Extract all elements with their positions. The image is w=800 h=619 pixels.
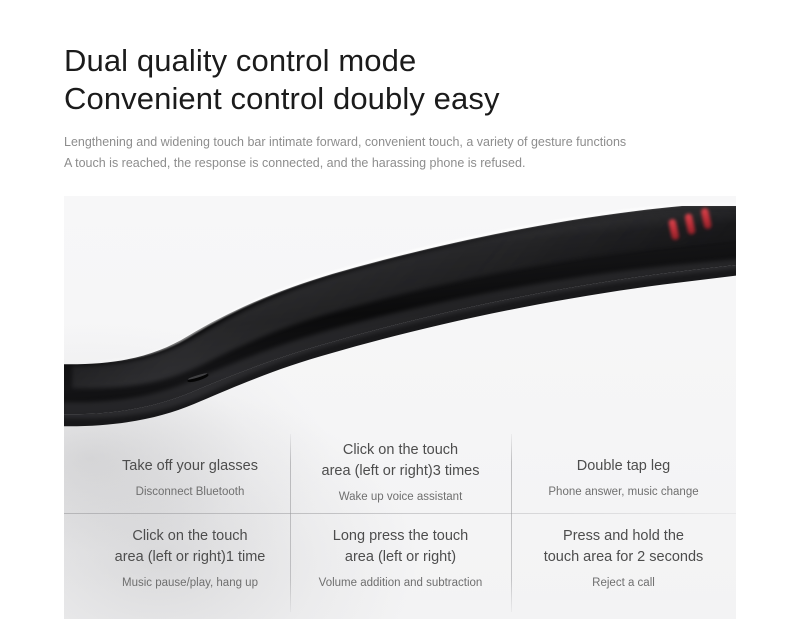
led-indicator-1 <box>668 218 680 240</box>
led-indicator-3 <box>700 207 712 229</box>
page-subtitle: Lengthening and widening touch bar intim… <box>64 132 744 174</box>
body-sheen <box>72 212 736 388</box>
page-title-line-1: Dual quality control mode <box>64 42 724 80</box>
product-photo-panel: Take off your glasses Disconnect Bluetoo… <box>64 196 736 619</box>
gesture-action-line: Long press the touch <box>290 526 511 547</box>
page-subtitle-line-2: A touch is reached, the response is conn… <box>64 153 744 174</box>
gesture-action-line: Click on the touch <box>290 440 511 461</box>
led-indicator-2 <box>684 213 696 235</box>
gesture-result-label: Wake up voice assistant <box>290 489 511 506</box>
gesture-action-line: touch area for 2 seconds <box>511 547 736 568</box>
gesture-cell-row2-col2: Long press the touch area (left or right… <box>290 526 511 592</box>
temple-arm-lower-edge <box>64 258 736 426</box>
gesture-action-line: Double tap leg <box>511 456 736 477</box>
gesture-cell-row1-col2: Click on the touch area (left or right)3… <box>290 440 511 506</box>
gesture-action-line: area (left or right)3 times <box>290 461 511 482</box>
gesture-action-line: area (left or right) <box>290 547 511 568</box>
gesture-action-line: area (left or right)1 time <box>90 547 290 568</box>
gesture-cell-row2-col1: Click on the touch area (left or right)1… <box>90 526 290 592</box>
gesture-result-label: Phone answer, music change <box>511 484 736 501</box>
gesture-table: Take off your glasses Disconnect Bluetoo… <box>64 428 736 619</box>
gesture-result-label: Reject a call <box>511 575 736 592</box>
gesture-result-label: Disconnect Bluetooth <box>90 484 290 501</box>
led-indicator-group <box>667 207 713 240</box>
microphone-slot <box>187 372 210 383</box>
page-title-line-2: Convenient control doubly easy <box>64 80 724 118</box>
gesture-action-line: Click on the touch <box>90 526 290 547</box>
gesture-cell-row1-col3: Double tap leg Phone answer, music chang… <box>511 456 736 501</box>
table-row-divider <box>64 513 736 514</box>
top-highlight <box>64 204 736 362</box>
gesture-result-label: Music pause/play, hang up <box>90 575 290 592</box>
gesture-result-label: Volume addition and subtraction <box>290 575 511 592</box>
page-subtitle-line-1: Lengthening and widening touch bar intim… <box>64 132 744 153</box>
gesture-cell-row2-col3: Press and hold the touch area for 2 seco… <box>511 526 736 592</box>
product-feature-page: Dual quality control mode Convenient con… <box>0 0 800 619</box>
temple-arm-body <box>64 206 736 414</box>
microphone-slot-highlight <box>188 372 208 380</box>
gesture-action-line: Take off your glasses <box>90 456 290 477</box>
body-reflection-band <box>64 254 736 418</box>
gesture-cell-row1-col1: Take off your glasses Disconnect Bluetoo… <box>90 456 290 501</box>
gesture-action-line: Press and hold the <box>511 526 736 547</box>
page-title: Dual quality control mode Convenient con… <box>64 42 724 118</box>
product-image-glasses-temple <box>64 196 736 446</box>
